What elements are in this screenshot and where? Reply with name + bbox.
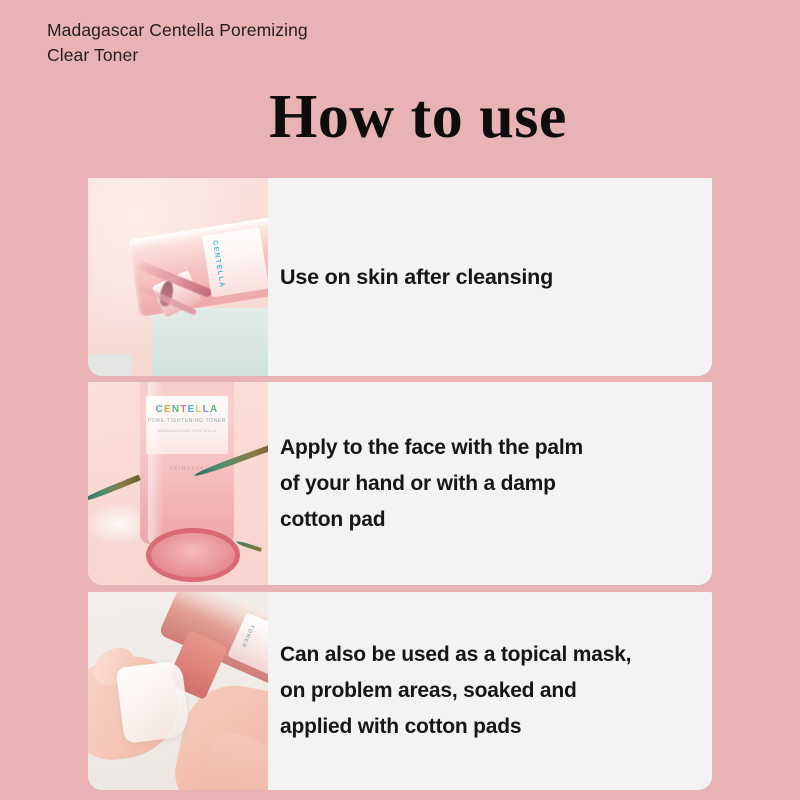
brand-letter: A xyxy=(210,404,218,415)
cotton-pad-shape xyxy=(116,660,191,743)
brand-letter: L xyxy=(195,404,202,415)
cotton-pad-secondary-shape xyxy=(88,354,132,376)
bottle-base-shape xyxy=(146,528,240,582)
step-card-3: TONER Can also be used as a topical mask… xyxy=(88,592,712,790)
bottle-brand-letters: CENTELLA xyxy=(148,404,226,415)
bottle-label-text: TONER xyxy=(239,623,255,648)
brand-letter: N xyxy=(172,404,180,415)
bottle-label-shape: TONER xyxy=(227,612,268,675)
how-to-use-infographic: Madagascar Centella Poremizing Clear Ton… xyxy=(0,0,800,800)
step-2-photo: CENTELLA PORE-TIGHTENING TONER MADAGASCA… xyxy=(88,382,268,585)
bottle-label-subtitle-secondary: MADAGASCAR CENTELLA xyxy=(152,428,222,433)
step-2-instruction: Apply to the face with the palm of your … xyxy=(280,430,583,538)
brand-letter: L xyxy=(203,404,210,415)
step-2-text-panel: Apply to the face with the palm of your … xyxy=(268,382,712,585)
centella-leaf-small-icon xyxy=(236,540,262,552)
brand-letter: C xyxy=(156,404,164,415)
brand-letter: E xyxy=(164,404,172,415)
step-1-text-panel: Use on skin after cleansing xyxy=(268,178,712,376)
step-3-photo: TONER xyxy=(88,592,268,790)
step-card-1: CENTELLA Use on skin after cleansing xyxy=(88,178,712,376)
step-3-text-panel: Can also be used as a topical mask, on p… xyxy=(268,592,712,790)
step-3-instruction: Can also be used as a topical mask, on p… xyxy=(280,637,631,745)
step-1-instruction: Use on skin after cleansing xyxy=(280,261,553,294)
brand-letter: T xyxy=(180,404,187,415)
step-1-photo: CENTELLA xyxy=(88,178,268,376)
centella-leaf-left-icon xyxy=(88,475,141,504)
page-title: How to use xyxy=(0,80,800,154)
cotton-pad-shape xyxy=(152,308,268,376)
bottle-label-shape: CENTELLA xyxy=(202,227,268,297)
product-name: Madagascar Centella Poremizing Clear Ton… xyxy=(47,18,447,68)
bottle-label-text: CENTELLA xyxy=(211,240,226,289)
step-card-2: CENTELLA PORE-TIGHTENING TONER MADAGASCA… xyxy=(88,382,712,585)
bottle-label-subtitle: PORE-TIGHTENING TONER xyxy=(148,418,226,424)
